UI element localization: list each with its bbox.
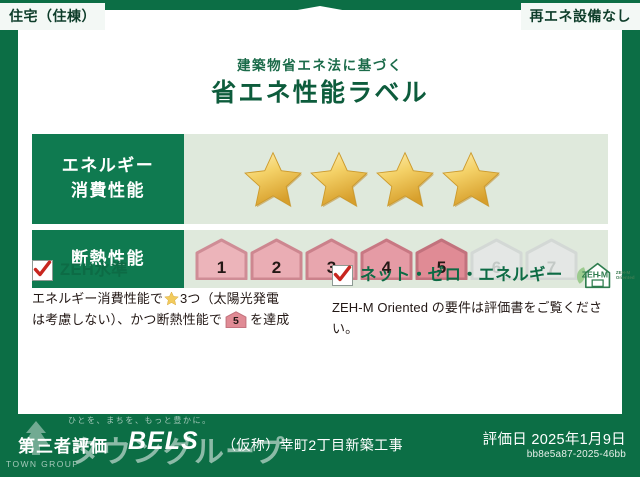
zeh-checkbox[interactable] xyxy=(32,260,53,281)
zeh-description: エネルギー消費性能で3つ（太陽光発電は考慮しない）、かつ断熱性能で5を達成 xyxy=(32,288,324,330)
zeh-m-caption-line1: ZEH-M xyxy=(616,270,630,275)
note-zeh-standard: ZEH水準 エネルギー消費性能で3つ（太陽光発電は考慮しない）、かつ断熱性能で5… xyxy=(32,260,332,339)
star-rating xyxy=(242,149,502,209)
zeh-m-house-icon: ZEH -M xyxy=(574,260,614,290)
star-icon xyxy=(242,149,304,209)
building-name: （仮称）幸町2丁目新築工事 xyxy=(222,435,403,455)
row-energy-label-line1: エネルギー xyxy=(62,156,155,175)
panel-content: 建築物省エネ法に基づく 省エネ性能ラベル エネルギー 消費性能 断熱性能 xyxy=(18,10,622,414)
zeh-desc-part3: を達成 xyxy=(250,312,289,327)
zeh-desc-stars: 3つ（太陽光発電 xyxy=(180,291,279,306)
inline-grade-number: 5 xyxy=(224,316,248,327)
note-nze-header: ネット・ゼロ・エネルギー ZEH -M ZEH-M Oriented xyxy=(332,260,608,290)
zeh-desc-part2: は考慮しない）、かつ断熱性能で xyxy=(32,312,222,327)
nze-description: ZEH-M Oriented の要件は評価書をご覧ください。 xyxy=(332,297,608,339)
evaluation-date: 評価日 2025年1月9日 xyxy=(483,428,626,449)
evaluation-code: bb8e5a87-2025-46bb xyxy=(527,449,626,460)
svg-text:-M: -M xyxy=(598,269,608,279)
nze-checkbox[interactable] xyxy=(332,265,353,286)
star-icon xyxy=(374,149,436,209)
zeh-m-logo-caption: ZEH-M Oriented xyxy=(616,270,635,281)
nze-title: ネット・ゼロ・エネルギー xyxy=(360,267,563,284)
building-type-tag: 住宅（住棟） xyxy=(0,3,105,30)
row-energy-value xyxy=(184,134,608,224)
renewable-equipment-tag: 再エネ設備なし xyxy=(521,3,640,30)
row-energy-label: エネルギー 消費性能 xyxy=(32,134,184,224)
footer-band: 第三者評価 BELS （仮称）幸町2丁目新築工事 評価日 2025年1月9日 b… xyxy=(0,414,640,477)
star-icon xyxy=(440,149,502,209)
third-party-evaluation-label: 第三者評価 xyxy=(18,432,108,457)
inline-grade-badge: 5 xyxy=(224,311,248,328)
zeh-m-logo: ZEH -M ZEH-M Oriented xyxy=(574,260,635,290)
page-title: 省エネ性能ラベル xyxy=(18,77,622,111)
zeh-title: ZEH水準 xyxy=(60,262,128,279)
row-energy-label-line2: 消費性能 xyxy=(71,181,145,200)
svg-text:ZEH: ZEH xyxy=(582,269,599,279)
note-net-zero-energy: ネット・ゼロ・エネルギー ZEH -M ZEH-M Oriented xyxy=(332,260,608,339)
zeh-m-caption-line2: Oriented xyxy=(616,275,635,280)
bels-logo-text: BELS xyxy=(128,427,199,456)
title-subtitle: 建築物省エネ法に基づく xyxy=(18,58,622,74)
inline-star-icon xyxy=(164,291,179,306)
note-zeh-header: ZEH水準 xyxy=(32,260,324,281)
title-block: 建築物省エネ法に基づく 省エネ性能ラベル xyxy=(18,58,622,111)
criteria-notes: ZEH水準 エネルギー消費性能で3つ（太陽光発電は考慮しない）、かつ断熱性能で5… xyxy=(32,260,608,339)
energy-performance-label: 住宅（住棟） 再エネ設備なし 建築物省エネ法に基づく 省エネ性能ラベル エネルギ… xyxy=(0,0,640,477)
row-energy-performance: エネルギー 消費性能 xyxy=(32,134,608,224)
star-icon xyxy=(308,149,370,209)
zeh-desc-part1: エネルギー消費性能で xyxy=(32,291,163,306)
